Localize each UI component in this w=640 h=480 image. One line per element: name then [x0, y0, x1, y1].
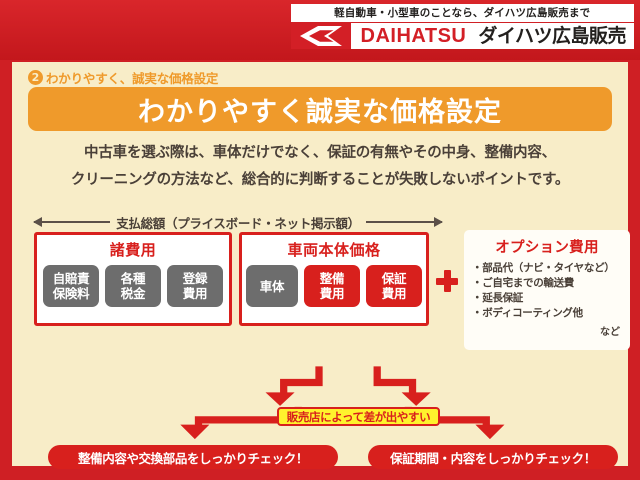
chip-line-1: 自賠責	[53, 271, 90, 286]
option-cost-box: オプション費用 ・部品代（ナビ・タイヤなど） ・ご自宅までの輸送費 ・延長保証 …	[464, 230, 630, 350]
total-amount-label: 支払総額（プライスボード・ネット掲示額）	[116, 213, 360, 232]
cost-box-vehicle-chips: 車体 整備 費用 保証 費用	[242, 265, 426, 307]
total-amount-heading: 支払総額（プライスボード・ネット掲示額）	[34, 212, 442, 232]
brand-logo-row: DAIHATSU ダイハツ広島販売	[291, 23, 634, 49]
chip-line-1: 整備	[320, 271, 344, 286]
arrow-left-icon	[34, 221, 110, 223]
check-pill-maintenance: 整備内容や交換部品をしっかりチェック！	[48, 445, 338, 469]
list-item: ・ボディコーティング他	[472, 306, 630, 321]
cost-box-fees-chips: 自賠責 保険料 各種 税金 登録 費用	[37, 265, 229, 307]
section-badge-label: わかりやすく、誠実な価格設定	[46, 68, 218, 87]
header-tagline: 軽自動車・小型車のことなら、ダイハツ広島販売まで	[291, 4, 634, 22]
daihatsu-d-mark-icon	[291, 23, 351, 49]
cost-box-vehicle-title: 車両本体価格	[242, 239, 426, 260]
chip-line-1: 各種	[121, 271, 145, 286]
list-item: ・延長保証	[472, 291, 630, 306]
dealer-difference-callout: 販売店によって差が出やすい	[277, 407, 440, 426]
chip-line-2: 費用	[382, 286, 406, 301]
lead-paragraph: 中古車を選ぶ際は、車体だけでなく、保証の有無やその中身、整備内容、 クリーニング…	[32, 140, 608, 194]
cost-box-fees-title: 諸費用	[37, 239, 229, 260]
list-item: ・部品代（ナビ・タイヤなど）	[472, 261, 630, 276]
arrow-right-icon	[366, 221, 442, 223]
chip-maintenance-cost: 整備 費用	[304, 265, 360, 307]
chip-line-2: 保険料	[53, 286, 90, 301]
section-badge: 2 わかりやすく、誠実な価格設定	[28, 68, 218, 87]
brand-en-label: DAIHATSU	[361, 25, 467, 47]
brand-jp-label: ダイハツ広島販売	[478, 25, 626, 47]
list-item: ・ご自宅までの輸送費	[472, 276, 630, 291]
chip-body: 車体	[246, 265, 298, 307]
callout-suffix: が出やすい	[375, 409, 431, 425]
site-header: 軽自動車・小型車のことなら、ダイハツ広島販売まで DAIHATSU ダイハツ広島…	[0, 0, 640, 60]
section-title-banner: わかりやすく誠実な価格設定	[28, 87, 612, 131]
content-panel: 2 わかりやすく、誠実な価格設定 わかりやすく誠実な価格設定 中古車を選ぶ際は、…	[12, 62, 628, 466]
chip-registration: 登録 費用	[167, 265, 223, 307]
chip-line-2: 費用	[320, 286, 344, 301]
chip-jibaiseki: 自賠責 保険料	[43, 265, 99, 307]
chip-taxes: 各種 税金	[105, 265, 161, 307]
cost-box-vehicle-price: 車両本体価格 車体 整備 費用 保証 費用	[239, 232, 429, 326]
chip-warranty-cost: 保証 費用	[366, 265, 422, 307]
cost-box-fees: 諸費用 自賠責 保険料 各種 税金 登録 費用	[34, 232, 232, 326]
plus-icon	[436, 270, 458, 292]
cost-breakdown-row: 諸費用 自賠責 保険料 各種 税金 登録 費用 車両本体価格	[34, 232, 630, 362]
lead-line-1: 中古車を選ぶ際は、車体だけでなく、保証の有無やその中身、整備内容、	[32, 140, 608, 167]
check-pill-warranty: 保証期間・内容をしっかりチェック！	[368, 445, 618, 469]
brand-wordmark: DAIHATSU ダイハツ広島販売	[351, 23, 634, 49]
chip-line-2: 税金	[121, 286, 145, 301]
page-title: わかりやすく誠実な価格設定	[138, 90, 502, 129]
option-cost-title: オプション費用	[464, 236, 630, 257]
section-number-badge: 2	[28, 70, 43, 85]
option-cost-list: ・部品代（ナビ・タイヤなど） ・ご自宅までの輸送費 ・延長保証 ・ボディコーティ…	[472, 261, 630, 321]
chip-line-1: 保証	[382, 271, 406, 286]
option-cost-suffix: など	[464, 323, 620, 338]
callout-highlight: 差	[364, 409, 375, 425]
chip-line-1: 登録	[183, 271, 207, 286]
lead-line-2: クリーニングの方法など、総合的に判断することが失敗しないポイントです。	[32, 167, 608, 194]
brand-logo-block[interactable]: 軽自動車・小型車のことなら、ダイハツ広島販売まで DAIHATSU ダイハツ広島…	[291, 4, 634, 49]
chip-line-2: 費用	[183, 286, 207, 301]
callout-prefix: 販売店によって	[287, 409, 364, 425]
chip-line-1: 車体	[260, 279, 284, 294]
